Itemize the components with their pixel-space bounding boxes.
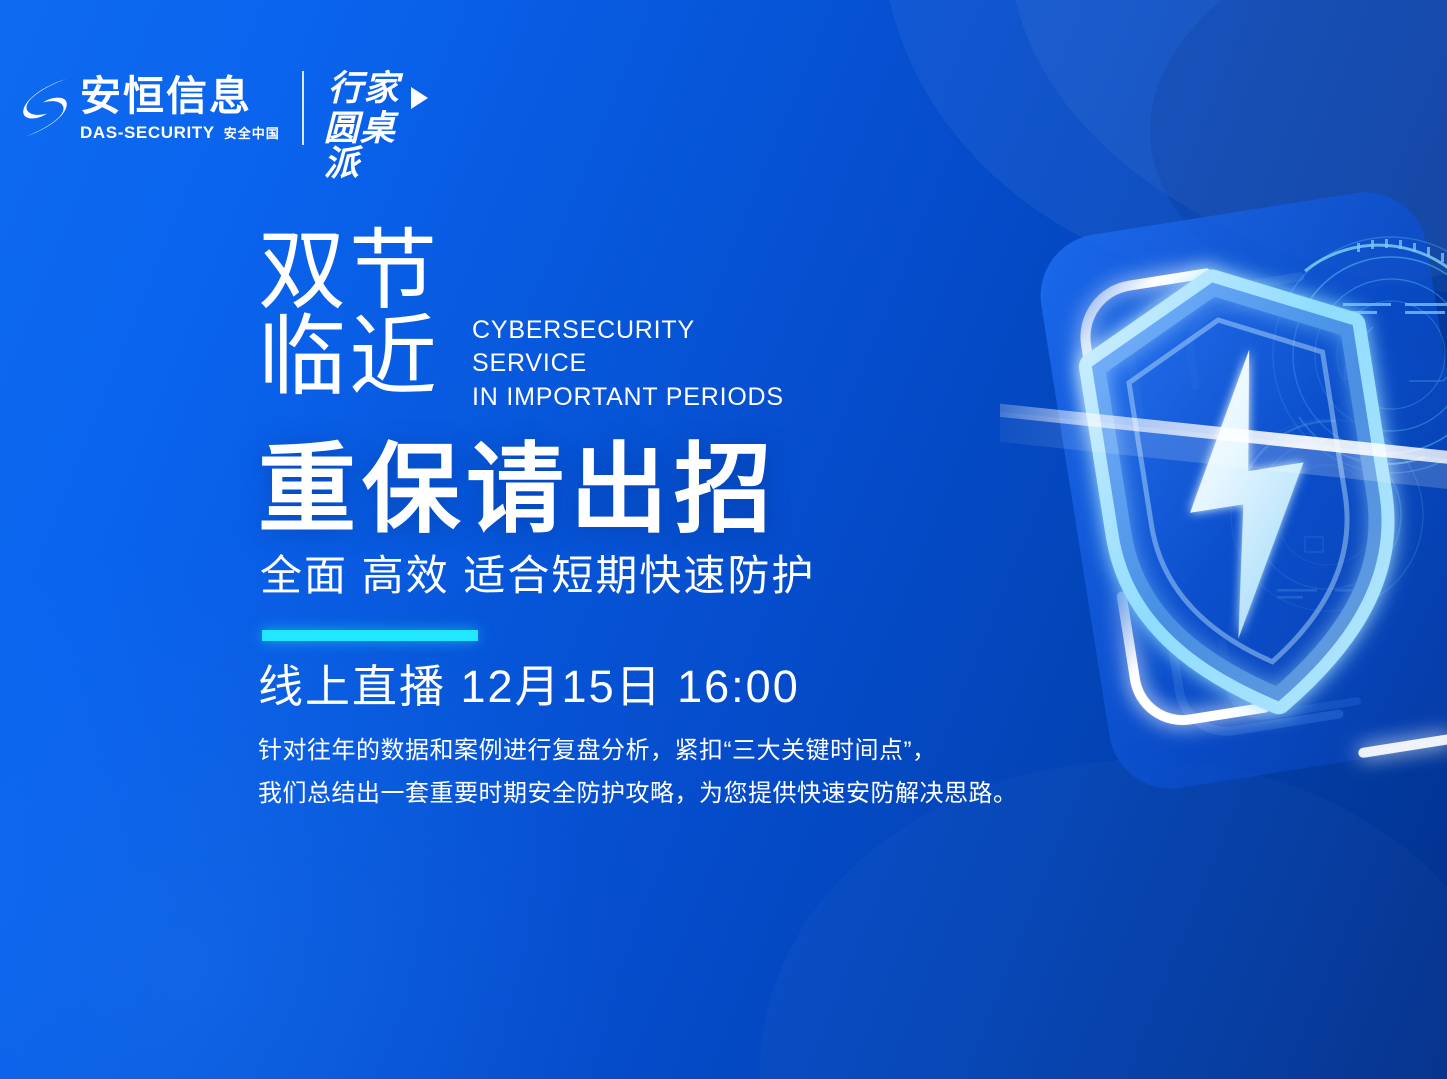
company-name-cn: 安恒信息 [80,76,280,117]
live-schedule: 线上直播 12月15日 16:00 [258,662,800,712]
hero-kicker-en-line-3: IN IMPORTANT PERIODS [472,381,784,414]
hero-kicker-row: 双节 临近 CYBERSECURITY SERVICE IN IMPORTANT… [258,228,784,414]
hero-headline: 重保请出招 [258,440,778,538]
hero-subheadline: 全面 高效 适合短期快速防护 [260,555,815,597]
hero-kicker-cn: 双节 临近 [258,228,440,400]
program-line-1: 行家 [328,71,400,106]
shield-artwork-svg [1005,185,1447,825]
program-line-2: 圆桌派 [324,111,426,181]
accent-bar [262,630,478,641]
banner-canvas: 安恒信息 DAS-SECURITY 安全中国 行家 圆桌派 双节 临近 CYBE… [0,0,1447,1079]
hero-kicker-en-line-2: SERVICE [472,347,784,380]
hero-kicker-en: CYBERSECURITY SERVICE IN IMPORTANT PERIO… [472,314,784,414]
company-tagline: 安全中国 [224,127,280,140]
play-triangle-icon [411,87,428,109]
shield-artwork [1005,185,1447,825]
program-badge[interactable]: 行家 圆桌派 [324,65,426,151]
das-swoosh-logo-icon [22,75,68,141]
company-name-en: DAS-SECURITY [80,124,215,141]
hero-description: 针对往年的数据和案例进行复盘分析，紧扣“三大关键时间点”， 我们总结出一套重要时… [258,730,1018,815]
brand-logo-lockup[interactable]: 安恒信息 DAS-SECURITY 安全中国 行家 圆桌派 [22,62,426,154]
brand-wordmark: 安恒信息 DAS-SECURITY 安全中国 [80,76,280,141]
hero-kicker-en-line-1: CYBERSECURITY [472,314,784,347]
hero-description-line-2: 我们总结出一套重要时期安全防护攻略，为您提供快速安防解决思路。 [258,773,1018,816]
hero-description-line-1: 针对往年的数据和案例进行复盘分析，紧扣“三大关键时间点”， [258,730,1018,773]
logo-divider [302,71,304,145]
